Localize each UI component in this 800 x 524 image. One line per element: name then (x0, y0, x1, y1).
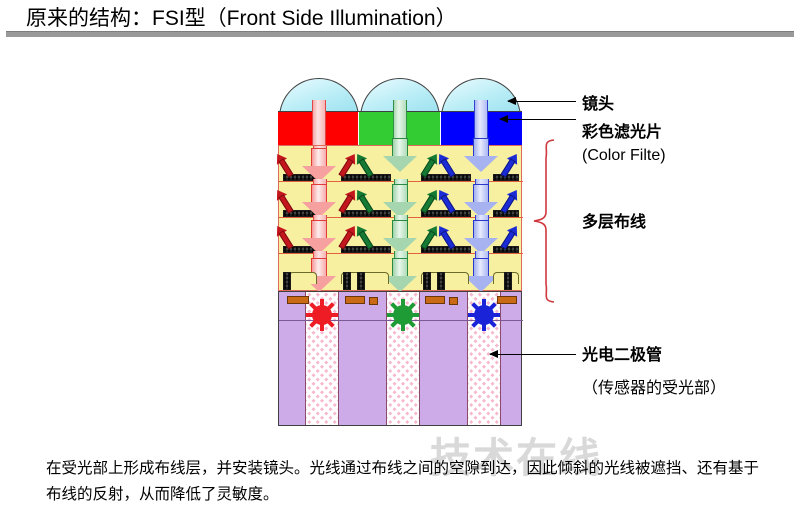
leader-line-lens (508, 101, 576, 102)
callout-photodiode-sub: （传感器的受光部） (582, 374, 726, 398)
ray-in-filter-red (312, 112, 326, 145)
via-contact (357, 272, 365, 290)
light-arrow-green (383, 138, 417, 172)
transistor-gate (369, 297, 378, 305)
via-contact (504, 272, 512, 290)
via-contact (343, 272, 351, 290)
light-arrow-red (302, 148, 336, 182)
title-divider (6, 31, 794, 37)
silicon-substrate (278, 291, 522, 426)
transistor-gate (345, 296, 365, 304)
figure-caption: 在受光部上形成布线层，并安装镜头。光线通过布线之间的空隙到达，因此倾斜的光线被遮… (46, 456, 766, 508)
metal-bar (421, 174, 471, 181)
fsi-sensor-diagram (278, 78, 522, 426)
transistor-gate (449, 297, 458, 305)
callout-color-filter: 彩色滤光片 (582, 118, 662, 142)
transistor-gate (425, 296, 445, 304)
lens-neck-blue (474, 100, 488, 112)
poly-gate-shape (289, 272, 317, 284)
light-arrow-red (302, 184, 336, 218)
absorption-burst-blue (469, 300, 499, 330)
callout-color-filter-en: (Color Filte) (582, 147, 666, 165)
page-title: 原来的结构：FSI型（Front Side Illumination） (26, 2, 457, 32)
light-arrow-green (383, 220, 417, 254)
lens-neck-green (393, 100, 407, 112)
callout-photodiode: 光电二极管 (582, 341, 662, 365)
transistor-gate (287, 296, 309, 304)
wiring-brace (532, 138, 560, 304)
multilayer-wiring-stack (278, 145, 522, 291)
callout-lens: 镜头 (582, 90, 614, 114)
light-arrow-blue (464, 138, 498, 172)
via-contact (437, 272, 445, 290)
leader-line-photodiode (490, 354, 576, 355)
light-arrow-blue (464, 220, 498, 254)
light-arrow-green (383, 184, 417, 218)
transistor-gate (497, 296, 517, 304)
lens-neck-red (312, 100, 326, 112)
light-arrow-blue (464, 184, 498, 218)
absorption-burst-red (307, 300, 337, 330)
via-contact (423, 272, 431, 290)
callout-wiring: 多层布线 (582, 208, 646, 232)
absorption-burst-green (388, 300, 418, 330)
via-contact (283, 272, 291, 290)
light-arrow-red (302, 220, 336, 254)
leader-line-color-filter (500, 119, 576, 120)
